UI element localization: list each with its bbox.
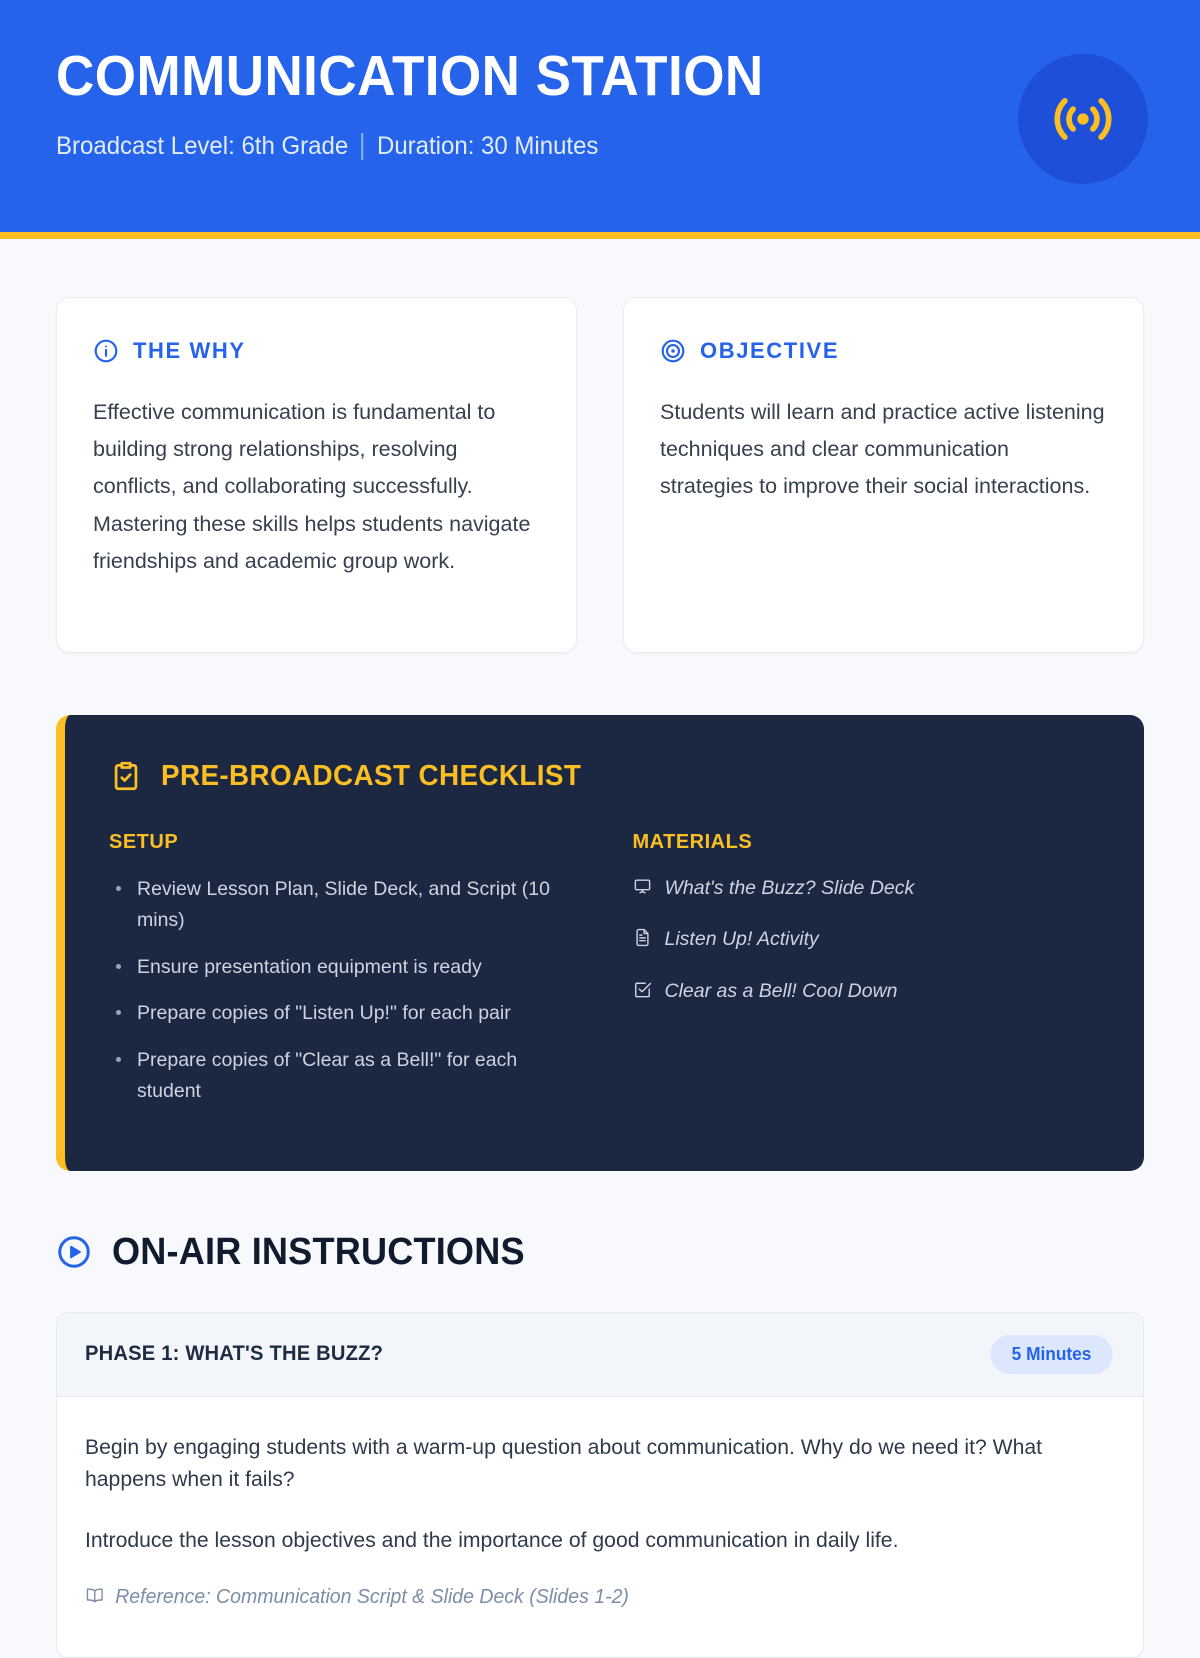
objective-card-label: OBJECTIVE bbox=[700, 338, 839, 364]
page-header: COMMUNICATION STATION Broadcast Level: 6… bbox=[0, 0, 1200, 239]
objective-card-header: OBJECTIVE bbox=[660, 338, 1107, 364]
objective-card: OBJECTIVE Students will learn and practi… bbox=[623, 297, 1144, 653]
why-card: THE WHY Effective communication is funda… bbox=[56, 297, 577, 653]
list-item: Ensure presentation equipment is ready bbox=[109, 952, 573, 983]
phase-duration-badge: 5 Minutes bbox=[991, 1335, 1113, 1374]
phase-card-body: Begin by engaging students with a warm-u… bbox=[57, 1397, 1143, 1657]
setup-title: SETUP bbox=[109, 831, 573, 854]
page-title: COMMUNICATION STATION bbox=[56, 46, 1068, 108]
broadcast-badge bbox=[1018, 54, 1148, 184]
setup-list: Review Lesson Plan, Slide Deck, and Scri… bbox=[109, 874, 573, 1107]
material-label: Clear as a Bell! Cool Down bbox=[665, 977, 898, 1006]
material-label: What's the Buzz? Slide Deck bbox=[665, 874, 915, 903]
clipboard-check-icon bbox=[109, 759, 143, 793]
materials-list: What's the Buzz? Slide Deck Listen Up! A… bbox=[633, 874, 1097, 1008]
list-item: Listen Up! Activity bbox=[633, 925, 1097, 956]
checkbox-check-icon bbox=[633, 979, 652, 1008]
on-air-title: ON-AIR INSTRUCTIONS bbox=[112, 1231, 525, 1274]
list-item: Prepare copies of "Clear as a Bell!" for… bbox=[109, 1045, 573, 1107]
list-item: Review Lesson Plan, Slide Deck, and Scri… bbox=[109, 874, 573, 936]
objective-card-body: Students will learn and practice active … bbox=[660, 394, 1107, 506]
phase-card-header[interactable]: PHASE 1: WHAT'S THE BUZZ? 5 Minutes bbox=[57, 1313, 1143, 1397]
target-icon bbox=[660, 338, 686, 364]
info-cards-row: THE WHY Effective communication is funda… bbox=[0, 239, 1200, 653]
pre-broadcast-checklist: PRE-BROADCAST CHECKLIST SETUP Review Les… bbox=[56, 715, 1144, 1171]
setup-column: SETUP Review Lesson Plan, Slide Deck, an… bbox=[109, 831, 573, 1123]
presentation-screen-icon bbox=[633, 876, 652, 905]
checklist-columns: SETUP Review Lesson Plan, Slide Deck, an… bbox=[109, 831, 1096, 1123]
document-icon bbox=[633, 927, 652, 956]
why-card-body: Effective communication is fundamental t… bbox=[93, 394, 540, 580]
info-circle-icon bbox=[93, 338, 119, 364]
on-air-section-header: ON-AIR INSTRUCTIONS bbox=[56, 1231, 1144, 1274]
phase-paragraph: Begin by engaging students with a warm-u… bbox=[85, 1431, 1100, 1496]
why-card-label: THE WHY bbox=[133, 338, 246, 364]
broadcast-signal-icon bbox=[1049, 85, 1117, 153]
play-circle-icon bbox=[56, 1234, 92, 1270]
phase-reference-text: Reference: Communication Script & Slide … bbox=[115, 1586, 629, 1609]
list-item: What's the Buzz? Slide Deck bbox=[633, 874, 1097, 905]
phase-reference: Reference: Communication Script & Slide … bbox=[85, 1585, 1089, 1611]
open-book-icon bbox=[85, 1585, 105, 1611]
list-item: Prepare copies of "Listen Up!" for each … bbox=[109, 998, 573, 1029]
why-card-header: THE WHY bbox=[93, 338, 540, 364]
header-subtitle: Broadcast Level: 6th Grade Duration: 30 … bbox=[56, 132, 1100, 161]
broadcast-level-text: Broadcast Level: 6th Grade bbox=[56, 132, 348, 161]
materials-column: MATERIALS What's the Buzz? Slide Deck bbox=[633, 831, 1097, 1123]
subtitle-divider bbox=[362, 133, 364, 160]
phase-name: PHASE 1: WHAT'S THE BUZZ? bbox=[85, 1342, 383, 1366]
phase-card[interactable]: PHASE 1: WHAT'S THE BUZZ? 5 Minutes Begi… bbox=[56, 1312, 1144, 1658]
lesson-plan-page: COMMUNICATION STATION Broadcast Level: 6… bbox=[0, 0, 1200, 1658]
list-item: Clear as a Bell! Cool Down bbox=[633, 977, 1097, 1008]
phase-paragraph: Introduce the lesson objectives and the … bbox=[85, 1524, 1100, 1557]
duration-text: Duration: 30 Minutes bbox=[377, 132, 598, 161]
material-label: Listen Up! Activity bbox=[665, 925, 819, 954]
checklist-title: PRE-BROADCAST CHECKLIST bbox=[161, 760, 581, 793]
checklist-header: PRE-BROADCAST CHECKLIST bbox=[109, 759, 1096, 793]
materials-title: MATERIALS bbox=[633, 831, 1097, 854]
